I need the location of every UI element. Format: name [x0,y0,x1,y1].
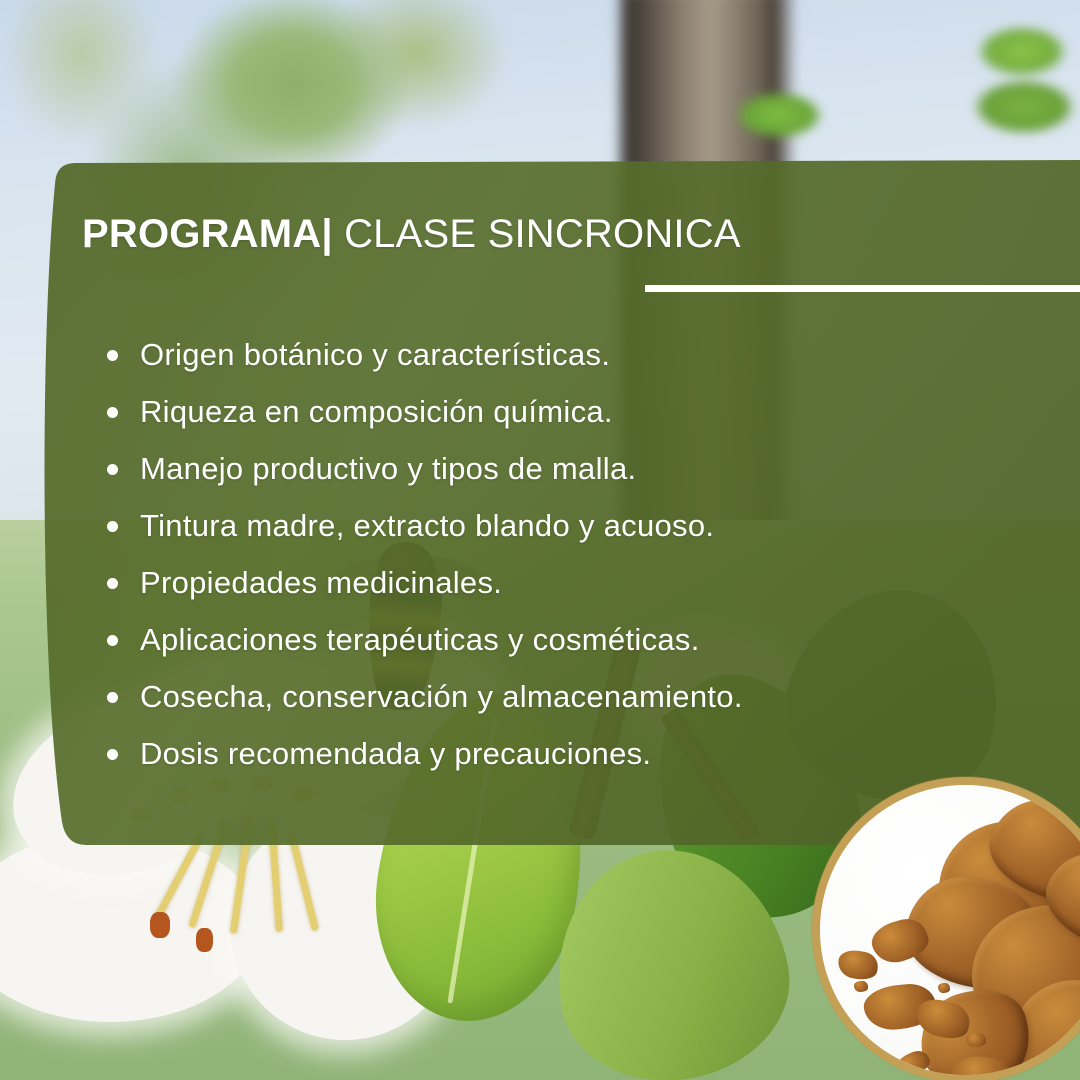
list-item-label: Riqueza en composición química. [140,394,613,429]
bullet-dot-icon [107,578,118,589]
list-item-label: Tintura madre, extracto blando y acuoso. [140,508,714,543]
bullet-dot-icon [107,407,118,418]
poster-canvas: PROGRAMA| CLASE SINCRONICA Origen botáni… [0,0,1080,1080]
bullet-dot-icon [107,350,118,361]
list-item: Origen botánico y características. [100,326,743,383]
title-bold-part: PROGRAMA| [82,212,333,256]
bullet-dot-icon [107,749,118,760]
list-item: Aplicaciones terapéuticas y cosméticas. [100,611,743,668]
list-item-label: Aplicaciones terapéuticas y cosméticas. [140,622,700,657]
list-item: Manejo productivo y tipos de malla. [100,440,743,497]
list-item-label: Cosecha, conservación y almacenamiento. [140,679,743,714]
list-item: Cosecha, conservación y almacenamiento. [100,668,743,725]
list-item-label: Dosis recomendada y precauciones. [140,736,651,771]
list-item: Propiedades medicinales. [100,554,743,611]
page-title: PROGRAMA| CLASE SINCRONICA [82,212,741,257]
bullet-dot-icon [107,635,118,646]
bullet-dot-icon [107,692,118,703]
list-item: Riqueza en composición química. [100,383,743,440]
title-divider [645,285,1080,292]
bullet-dot-icon [107,464,118,475]
blossom-anther [196,928,213,952]
program-list: Origen botánico y características. Rique… [100,326,743,782]
propolis-crumb [938,983,950,993]
list-item-label: Origen botánico y características. [140,337,610,372]
list-item-label: Propiedades medicinales. [140,565,502,600]
content-panel: PROGRAMA| CLASE SINCRONICA Origen botáni… [0,150,1080,860]
list-item: Tintura madre, extracto blando y acuoso. [100,497,743,554]
propolis-crumb [854,981,868,992]
propolis-crumb [966,1033,986,1047]
title-light-part: CLASE SINCRONICA [333,212,741,256]
list-item: Dosis recomendada y precauciones. [100,725,743,782]
list-item-label: Manejo productivo y tipos de malla. [140,451,636,486]
bullet-dot-icon [107,521,118,532]
blossom-anther [150,912,170,938]
